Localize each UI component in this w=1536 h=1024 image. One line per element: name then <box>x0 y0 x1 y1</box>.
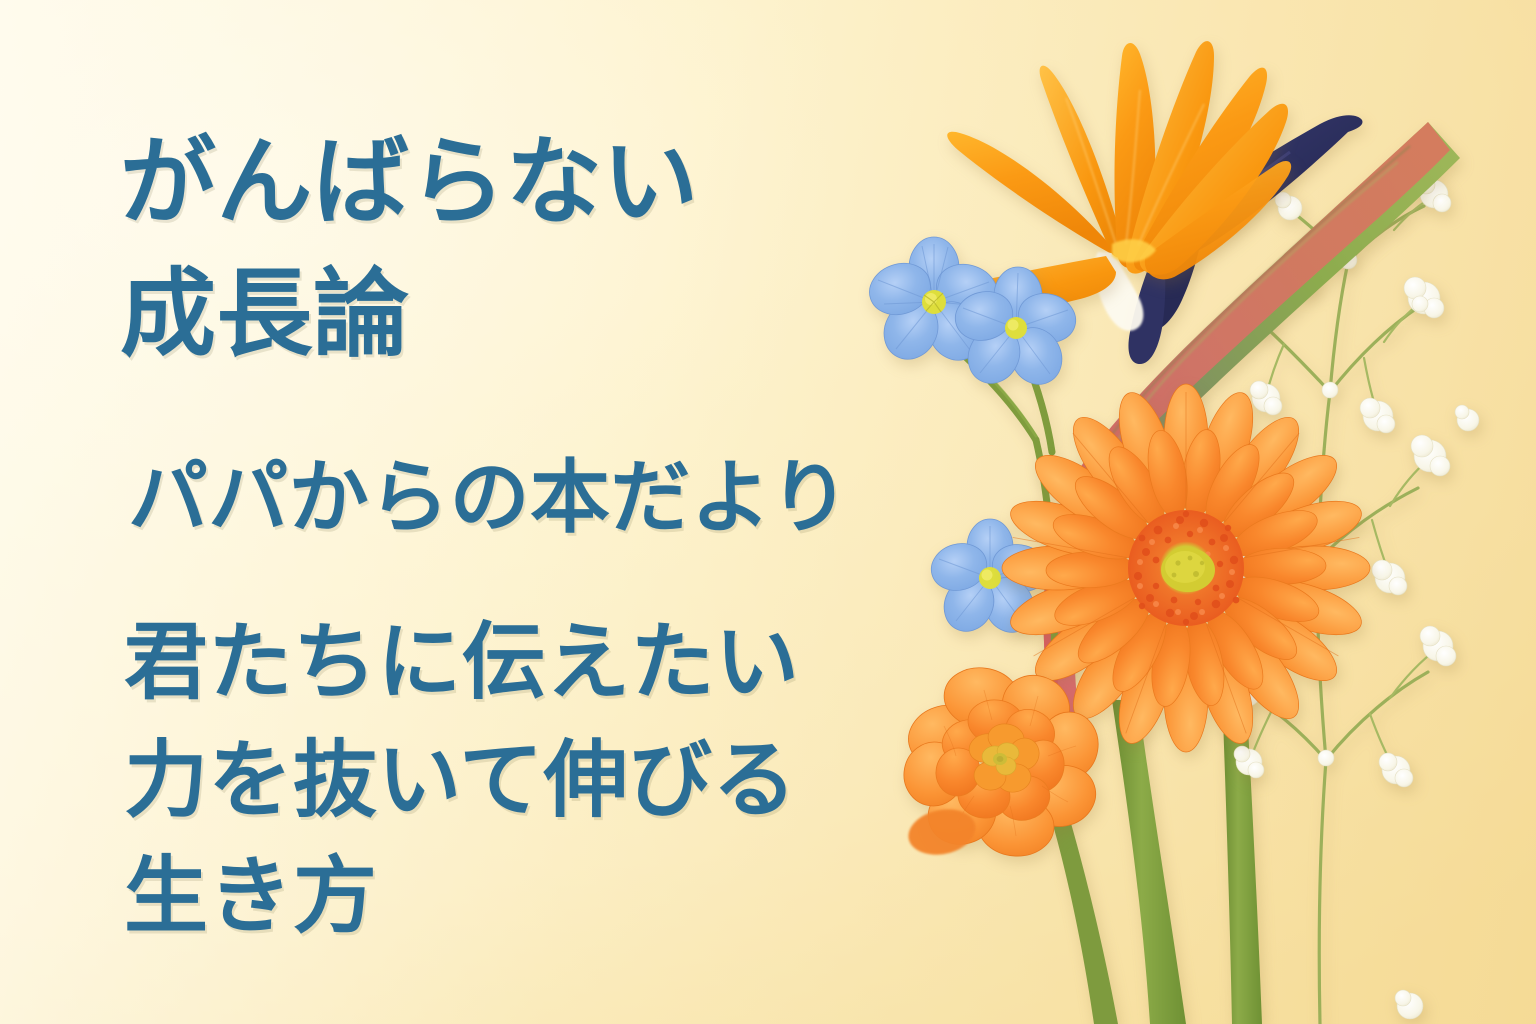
title-line-2: 成長論 <box>120 266 409 362</box>
body-line-2: 力を抜いて伸びる <box>124 738 797 822</box>
body-line-1: 君たちに伝えたい <box>124 620 799 704</box>
subtitle: パパからの本だより <box>128 458 850 538</box>
body-line-3: 生き方 <box>124 854 377 938</box>
title-line-1: がんばらない <box>120 134 699 230</box>
floral-arrangement <box>850 0 1536 1024</box>
poster-canvas: がんばらない 成長論 パパからの本だより 君たちに伝えたい 力を抜いて伸びる 生… <box>0 0 1536 1024</box>
text-column: がんばらない 成長論 パパからの本だより 君たちに伝えたい 力を抜いて伸びる 生… <box>118 0 938 1024</box>
